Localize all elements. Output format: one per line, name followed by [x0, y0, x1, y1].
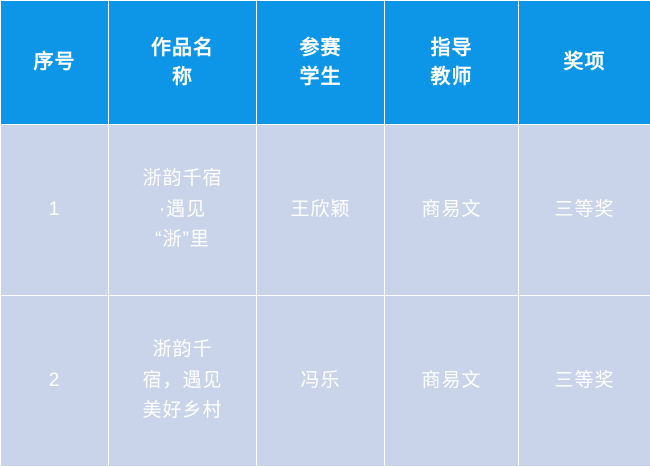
award-table-container: 序号 作品名 称 参赛 学生 指导 教师 奖项 1	[0, 0, 650, 466]
cell-work: 浙韵千 宿，遇见 美好乡村	[109, 296, 257, 467]
cell-award: 三等奖	[519, 296, 650, 467]
header-cell-teacher: 指导 教师	[385, 1, 519, 125]
header-row: 序号 作品名 称 参赛 学生 指导 教师 奖项	[1, 1, 650, 125]
cell-text-work: 浙韵千 宿，遇见 美好乡村	[115, 335, 250, 427]
table-header: 序号 作品名 称 参赛 学生 指导 教师 奖项	[1, 1, 650, 125]
table-body: 1 浙韵千宿 ·遇见 “浙”里 王欣颖 商易文 三等奖 2	[1, 125, 650, 467]
header-cell-work: 作品名 称	[109, 1, 257, 125]
cell-text-teacher: 商易文	[391, 195, 512, 226]
cell-text-student: 王欣颖	[263, 195, 378, 226]
cell-text-work: 浙韵千宿 ·遇见 “浙”里	[115, 164, 250, 256]
header-cell-student: 参赛 学生	[257, 1, 385, 125]
cell-work: 浙韵千宿 ·遇见 “浙”里	[109, 125, 257, 296]
cell-teacher: 商易文	[385, 296, 519, 467]
award-table: 序号 作品名 称 参赛 学生 指导 教师 奖项 1	[0, 0, 650, 467]
header-label-teacher: 指导 教师	[391, 34, 512, 92]
cell-index: 1	[1, 125, 109, 296]
cell-text-index: 2	[7, 366, 102, 397]
table-row: 1 浙韵千宿 ·遇见 “浙”里 王欣颖 商易文 三等奖	[1, 125, 650, 296]
cell-index: 2	[1, 296, 109, 467]
cell-text-teacher: 商易文	[391, 366, 512, 397]
cell-text-index: 1	[7, 195, 102, 226]
cell-student: 王欣颖	[257, 125, 385, 296]
cell-text-award: 三等奖	[525, 195, 644, 226]
cell-award: 三等奖	[519, 125, 650, 296]
header-label-student: 参赛 学生	[263, 34, 378, 92]
header-label-index: 序号	[7, 48, 102, 77]
cell-teacher: 商易文	[385, 125, 519, 296]
cell-student: 冯乐	[257, 296, 385, 467]
cell-text-student: 冯乐	[263, 366, 378, 397]
header-label-award: 奖项	[525, 48, 644, 77]
header-label-work: 作品名 称	[115, 34, 250, 92]
header-cell-index: 序号	[1, 1, 109, 125]
header-cell-award: 奖项	[519, 1, 650, 125]
cell-text-award: 三等奖	[525, 366, 644, 397]
table-row: 2 浙韵千 宿，遇见 美好乡村 冯乐 商易文 三等奖	[1, 296, 650, 467]
